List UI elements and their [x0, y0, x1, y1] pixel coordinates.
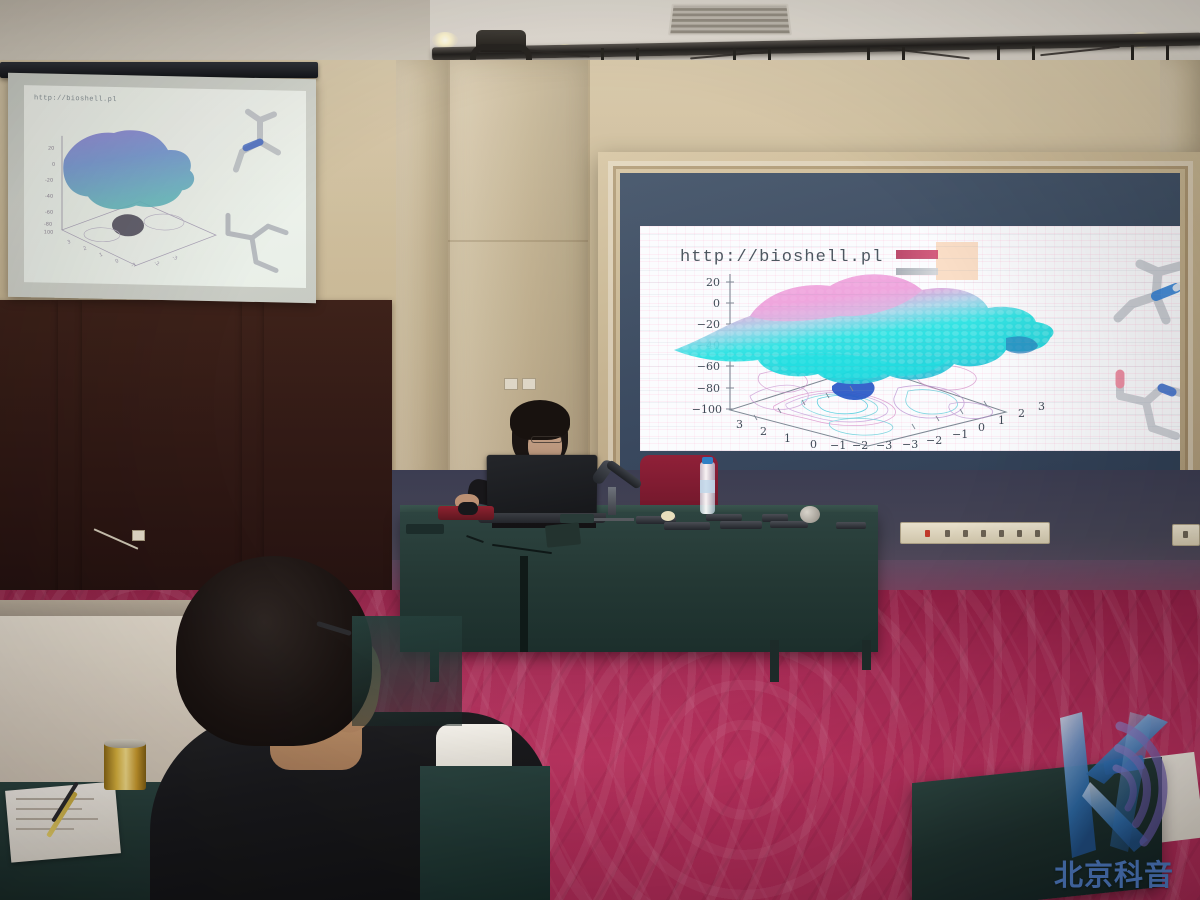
svg-text:1: 1	[784, 432, 791, 445]
svg-text:1: 1	[99, 252, 104, 259]
art-panel-frame	[0, 300, 60, 600]
svg-text:-1: -1	[131, 262, 138, 269]
molecule-model-bottom	[1106, 366, 1180, 451]
svg-text:−3: −3	[902, 438, 918, 451]
wall-switch[interactable]	[504, 378, 518, 390]
svg-text:0: 0	[713, 297, 720, 310]
audience-member-head	[176, 556, 372, 746]
right-table	[912, 757, 1162, 900]
round-device	[800, 506, 820, 523]
svg-text:3: 3	[67, 239, 72, 246]
svg-text:2: 2	[83, 245, 88, 252]
led-slide: http://bioshell.pl	[640, 226, 1180, 451]
surface-plot: 20 0 −20 −40 −60 −80 −100	[654, 246, 1074, 451]
folder-item	[545, 522, 581, 547]
svg-text:1: 1	[998, 414, 1005, 427]
wall-seam	[448, 60, 450, 490]
small-object	[661, 511, 675, 521]
svg-text:20: 20	[706, 276, 720, 289]
svg-text:0: 0	[52, 162, 55, 168]
downlight-icon	[432, 32, 458, 48]
paper-text-line	[16, 808, 82, 810]
device-item	[770, 521, 808, 528]
molecule-model-top	[220, 107, 298, 181]
svg-text:2: 2	[1018, 407, 1025, 420]
art-panel-frame	[264, 300, 392, 600]
device-item	[720, 521, 762, 529]
svg-text:-3: -3	[171, 255, 178, 262]
device-item	[836, 522, 866, 529]
svg-text:0: 0	[115, 258, 120, 265]
svg-text:-100: -100	[44, 229, 53, 235]
svg-text:-80: -80	[44, 222, 52, 228]
led-display-frame: http://bioshell.pl	[598, 152, 1200, 502]
wall-switch[interactable]	[522, 378, 536, 390]
svg-text:−3: −3	[876, 439, 892, 451]
mouse[interactable]	[458, 502, 478, 515]
slide-url-text: http://bioshell.pl	[34, 94, 117, 104]
svg-text:−1: −1	[830, 439, 846, 451]
svg-text:20: 20	[48, 146, 54, 152]
svg-text:−2: −2	[926, 434, 942, 447]
svg-text:0: 0	[978, 421, 985, 434]
svg-text:-60: -60	[45, 210, 53, 216]
led-display-panel: http://bioshell.pl	[620, 173, 1180, 481]
presenter-hair	[510, 400, 570, 440]
power-outlet[interactable]	[1172, 524, 1200, 546]
beverage-can	[104, 742, 146, 790]
glasses-icon	[531, 436, 562, 443]
front-table-cloth	[420, 766, 550, 900]
svg-text:3: 3	[736, 418, 743, 431]
art-panel-frame	[82, 300, 242, 600]
svg-text:0: 0	[810, 438, 817, 451]
device-item	[664, 522, 710, 530]
svg-text:2: 2	[760, 425, 767, 438]
svg-text:-2: -2	[153, 260, 160, 267]
ac-vent-icon	[668, 4, 792, 36]
paper-text-line	[16, 798, 94, 800]
svg-text:−100: −100	[692, 403, 722, 416]
bottle-cap	[702, 457, 713, 464]
molecule-model-top	[1106, 254, 1180, 340]
svg-text:−80: −80	[697, 382, 720, 395]
handout-papers	[5, 781, 121, 862]
wall-column	[396, 60, 448, 490]
bottle-label	[700, 480, 715, 493]
art-panel-divider	[58, 300, 82, 600]
svg-text:−2: −2	[852, 439, 868, 451]
svg-text:−60: −60	[697, 360, 720, 373]
projection-screen: http://bioshell.pl	[8, 73, 316, 303]
wall-outlet[interactable]	[132, 530, 145, 541]
floor-trim	[0, 600, 212, 616]
power-outlet-strip[interactable]	[900, 522, 1050, 544]
paper-text-line	[16, 828, 74, 830]
molecule-model-bottom	[216, 207, 300, 281]
svg-text:3: 3	[1038, 400, 1045, 413]
microphone-tripod	[592, 505, 634, 521]
wall-seam	[588, 60, 590, 490]
device-item	[406, 524, 444, 534]
presenter-table	[400, 512, 878, 652]
wall-seam	[448, 240, 588, 242]
table-leg	[770, 640, 779, 682]
side-table	[352, 616, 462, 726]
svg-text:-40: -40	[45, 194, 53, 200]
art-panel-divider	[242, 300, 264, 600]
svg-text:−1: −1	[952, 428, 968, 441]
svg-text:−20: −20	[697, 318, 720, 331]
can-top	[104, 739, 146, 748]
laptop-screen[interactable]	[487, 455, 598, 517]
table-leg	[862, 640, 871, 670]
surface-plot-thumbnail: 200 -20-40 -60-80 -100 3 2 1 0 -1 -2 -3	[44, 112, 224, 276]
projected-slide: http://bioshell.pl	[24, 85, 306, 288]
svg-text:-20: -20	[45, 178, 53, 184]
cable	[520, 556, 528, 652]
ceiling-shadow	[0, 0, 430, 62]
photograph-scene: http://bioshell.pl	[0, 0, 1200, 900]
device-item	[706, 514, 742, 521]
